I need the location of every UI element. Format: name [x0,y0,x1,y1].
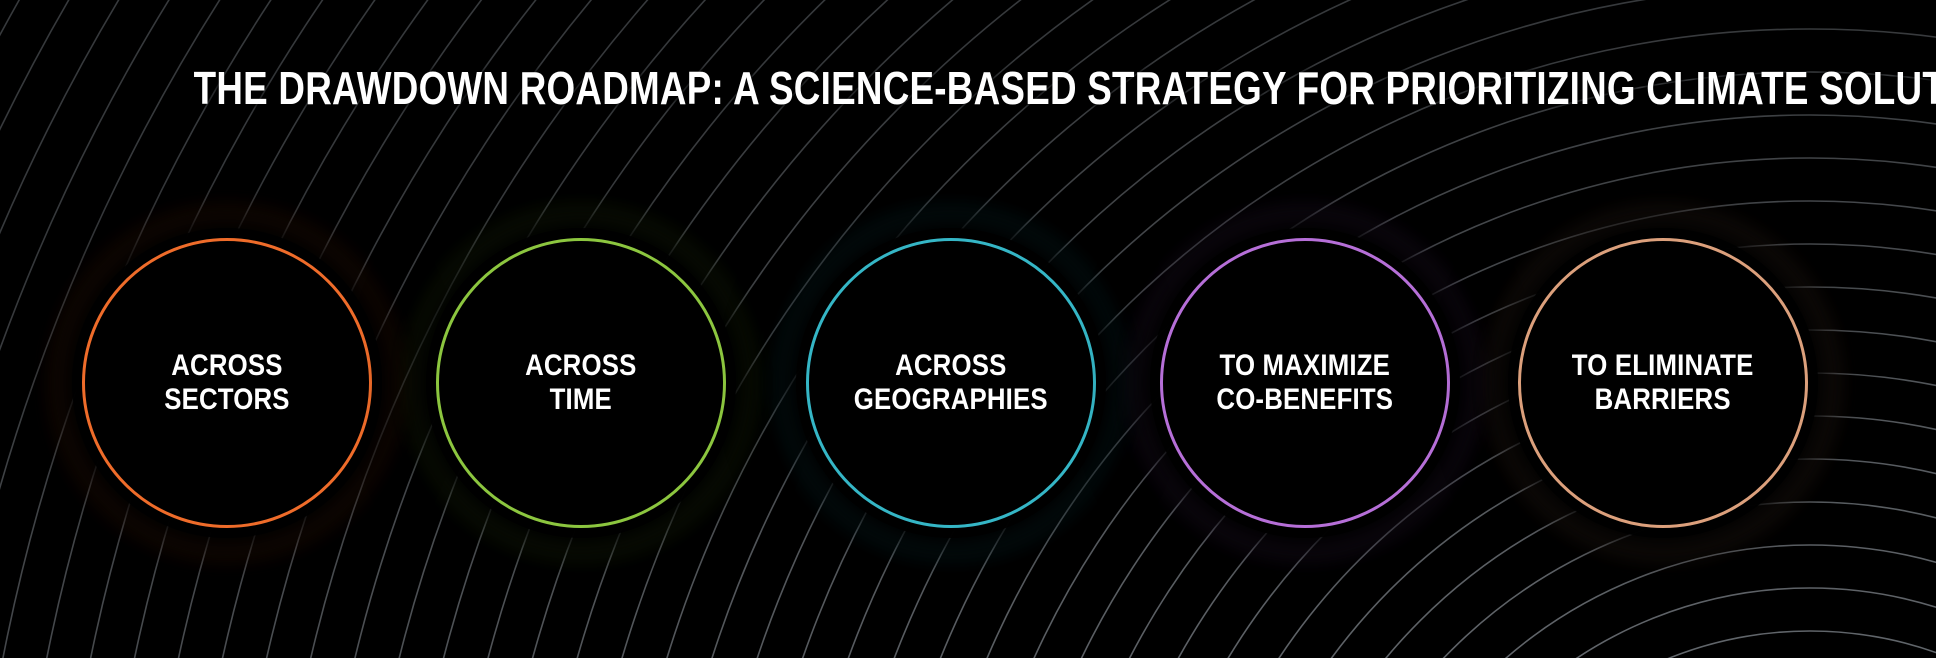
pillar-circle-across-geographies[interactable]: ACROSS GEOGRAPHIES [806,238,1096,528]
page-title: THE DRAWDOWN ROADMAP: A SCIENCE-BASED ST… [194,62,1743,114]
pillar-label-across-geographies: ACROSS GEOGRAPHIES [849,349,1053,417]
pillar-circle-to-eliminate-barriers[interactable]: TO ELIMINATE BARRIERS [1518,238,1808,528]
pillar-label-to-eliminate-barriers: TO ELIMINATE BARRIERS [1567,349,1759,417]
pillar-label-across-sectors: ACROSS SECTORS [159,349,295,417]
pillar-circle-across-sectors[interactable]: ACROSS SECTORS [82,238,372,528]
roadmap-banner: THE DRAWDOWN ROADMAP: A SCIENCE-BASED ST… [0,0,1936,658]
pillar-label-to-maximize-co-benefits: TO MAXIMIZE CO-BENEFITS [1211,349,1398,417]
pillar-circle-across-time[interactable]: ACROSS TIME [436,238,726,528]
pillar-label-across-time: ACROSS TIME [520,349,642,417]
pillar-circle-to-maximize-co-benefits[interactable]: TO MAXIMIZE CO-BENEFITS [1160,238,1450,528]
